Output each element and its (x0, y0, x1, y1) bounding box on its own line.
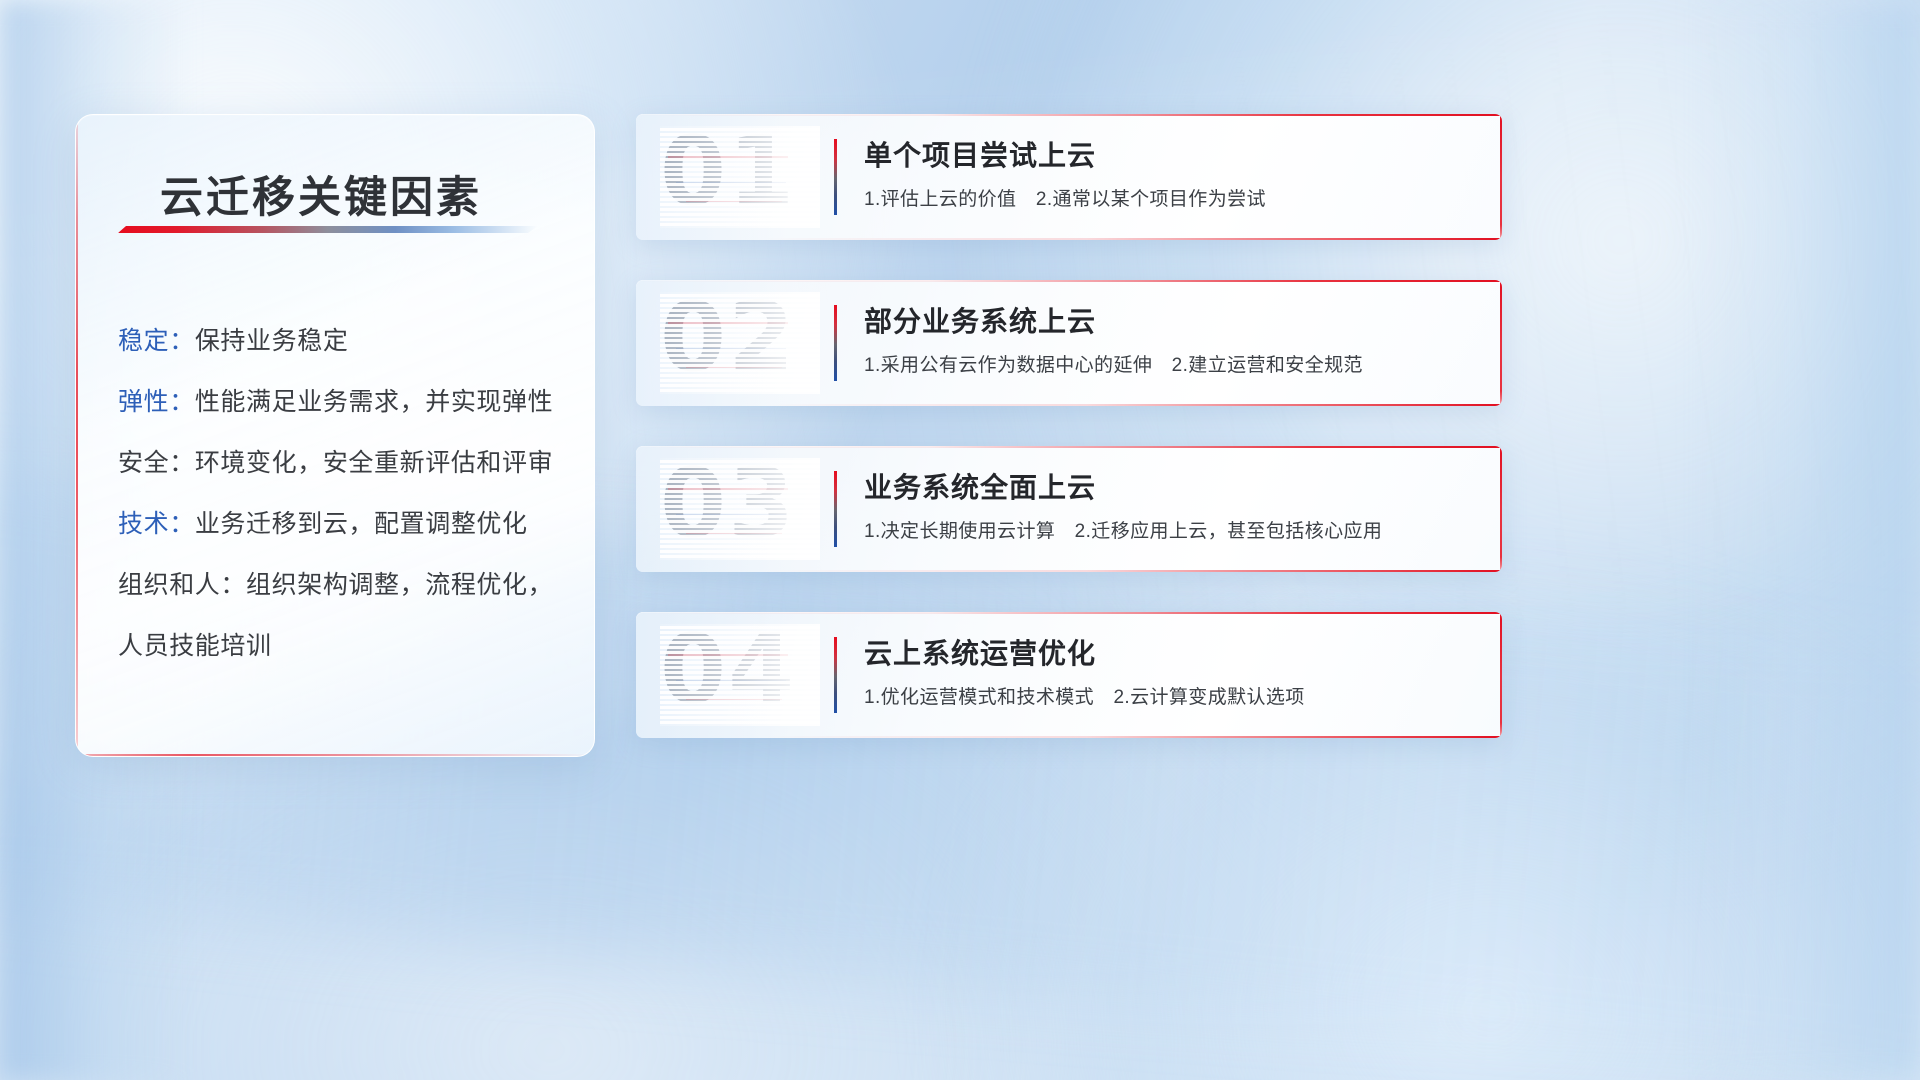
glitch-red-line-2 (686, 532, 782, 534)
list-item: 弹性：性能满足业务需求，并实现弹性 (118, 372, 564, 433)
list-item: 安全：环境变化，安全重新评估和评审 (118, 433, 564, 494)
stage-card-02[interactable]: 02 部分业务系统上云 1.采用公有云作为数据中心的延伸 2.建立运营和安全规范 (636, 280, 1502, 406)
glitch-red-line-2 (686, 698, 782, 700)
list-item-text: 性能满足业务需求，并实现弹性 (195, 388, 553, 416)
key-factors-list: 稳定：保持业务稳定 弹性：性能满足业务需求，并实现弹性 安全：环境变化，安全重新… (118, 311, 564, 677)
stage-number-text: 03 (660, 458, 820, 556)
card-top-accent (636, 446, 1502, 448)
card-title: 单个项目尝试上云 (864, 134, 1096, 174)
card-right-accent (1500, 612, 1502, 738)
key-factors-panel: 云迁移关键因素 稳定：保持业务稳定 弹性：性能满足业务需求，并实现弹性 安全：环… (75, 114, 595, 757)
card-description: 1.采用公有云作为数据中心的延伸 2.建立运营和安全规范 (864, 350, 1363, 377)
list-item: 稳定：保持业务稳定 (118, 311, 564, 372)
stage-number-text: 01 (660, 126, 820, 224)
list-item: 组织和人：组织架构调整，流程优化， (118, 555, 564, 616)
list-item-text: 组织架构调整，流程优化， (246, 571, 553, 599)
list-item-text: 保持业务稳定 (195, 327, 349, 355)
card-bottom-accent (636, 238, 1502, 240)
list-item-label: 技术： (118, 510, 195, 538)
card-top-accent (636, 114, 1502, 116)
card-description: 1.优化运营模式和技术模式 2.云计算变成默认选项 (864, 682, 1305, 709)
glitch-red-line-2 (686, 366, 782, 368)
list-item-label: 安全： (118, 449, 195, 477)
stage-card-04[interactable]: 04 云上系统运营优化 1.优化运营模式和技术模式 2.云计算变成默认选项 (636, 612, 1502, 738)
glitch-blue-line (676, 348, 786, 350)
page-title: 云迁移关键因素 (160, 163, 482, 225)
card-title: 业务系统全面上云 (864, 466, 1096, 506)
stage-card-03[interactable]: 03 业务系统全面上云 1.决定长期使用云计算 2.迁移应用上云，甚至包括核心应… (636, 446, 1502, 572)
stage-number-text: 04 (660, 624, 820, 722)
stage-number-glitch: 01 (660, 126, 820, 228)
glitch-blue-line (676, 182, 786, 184)
list-item-text: 人员技能培训 (118, 632, 272, 660)
stage-number-glitch: 04 (660, 624, 820, 726)
stage-card-01[interactable]: 01 单个项目尝试上云 1.评估上云的价值 2.通常以某个项目作为尝试 (636, 114, 1502, 240)
title-underline-rule (118, 226, 538, 233)
stage-number-glitch: 02 (660, 292, 820, 394)
stage-cards-list: 01 单个项目尝试上云 1.评估上云的价值 2.通常以某个项目作为尝试 02 (636, 114, 1502, 778)
card-title: 部分业务系统上云 (864, 300, 1096, 340)
stage-number-glitch: 03 (660, 458, 820, 560)
background-right-stripe (1690, 0, 1920, 1080)
stage-number-text: 02 (660, 292, 820, 390)
card-accent-bar (834, 471, 837, 547)
list-item-label: 弹性： (118, 388, 195, 416)
list-item-text: 业务迁移到云，配置调整优化 (195, 510, 528, 538)
glitch-blue-line (676, 680, 786, 682)
panel-bottom-accent-edge (76, 754, 594, 756)
card-top-accent (636, 280, 1502, 282)
card-accent-bar (834, 637, 837, 713)
list-item-label: 组织和人： (118, 571, 246, 599)
card-top-accent (636, 612, 1502, 614)
card-bottom-accent (636, 736, 1502, 738)
slide-canvas: 云迁移关键因素 稳定：保持业务稳定 弹性：性能满足业务需求，并实现弹性 安全：环… (0, 0, 1920, 1080)
glitch-red-line (668, 654, 788, 657)
list-item-label: 稳定： (118, 327, 195, 355)
glitch-red-line (668, 488, 788, 491)
glitch-red-line (668, 156, 788, 159)
card-bottom-accent (636, 404, 1502, 406)
card-bottom-accent (636, 570, 1502, 572)
glitch-red-line-2 (686, 200, 782, 202)
card-right-accent (1500, 280, 1502, 406)
panel-left-accent-edge (76, 115, 78, 756)
card-description: 1.评估上云的价值 2.通常以某个项目作为尝试 (864, 184, 1266, 211)
glitch-blue-line (676, 514, 786, 516)
card-right-accent (1500, 446, 1502, 572)
card-accent-bar (834, 305, 837, 381)
list-item: 人员技能培训 (118, 616, 564, 677)
list-item-text: 环境变化，安全重新评估和评审 (195, 449, 553, 477)
card-accent-bar (834, 139, 837, 215)
glitch-red-line (668, 322, 788, 325)
card-description: 1.决定长期使用云计算 2.迁移应用上云，甚至包括核心应用 (864, 516, 1382, 543)
card-title: 云上系统运营优化 (864, 632, 1096, 672)
list-item: 技术：业务迁移到云，配置调整优化 (118, 494, 564, 555)
card-right-accent (1500, 114, 1502, 240)
